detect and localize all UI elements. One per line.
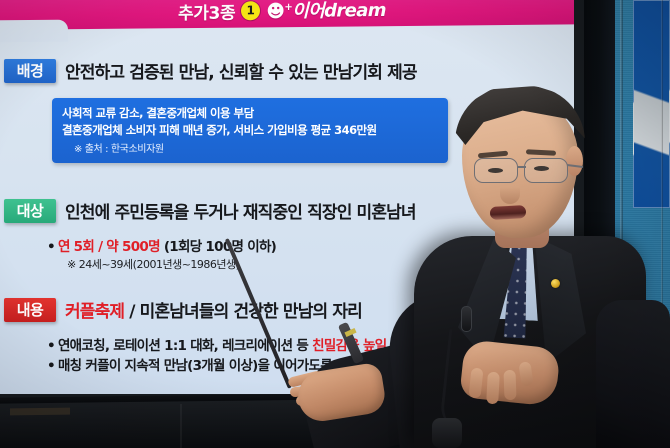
header-circle-number: 1 <box>241 1 260 20</box>
target-bullet-1-highlight: 연 5회 / 약 500명 <box>58 239 160 255</box>
badge-target: 대상 <box>4 199 56 223</box>
section-target: 대상 인천에 주민등록을 두거나 재직중인 직장인 미혼남녀 <box>4 198 416 223</box>
wall-seam-right <box>661 0 663 448</box>
callout-line-1: 사회적 교류 감소, 결혼중개업체 이용 부담 <box>62 105 438 122</box>
section-background-row: 배경 안전하고 검증된 만남, 신뢰할 수 있는 만남기회 제공 <box>4 58 417 83</box>
content-bullet-2: •매칭 커플이 지속적 만남(3개월 이상)을 이어가도록 지원 <box>47 356 402 376</box>
section-background: 배경 안전하고 검증된 만남, 신뢰할 수 있는 만남기회 제공 <box>4 58 417 83</box>
badge-content: 내용 <box>4 298 56 322</box>
section-content-title-highlight: 커플축제 <box>65 302 124 322</box>
target-bullet-1-rest: (1회당 100명 이하) <box>160 239 276 255</box>
wall-poster <box>633 0 670 208</box>
callout-line-2: 결혼중개업체 소비자 피해 매년 증가, 서비스 가입비용 평균 346만원 <box>62 122 438 139</box>
presentation-slide: 추가3종 1 ☻+이어dream 배경 안전하고 검증된 만남, 신뢰할 수 있… <box>0 0 574 394</box>
bullet-dot: • <box>47 358 55 374</box>
section-content-title-sep: / <box>124 302 140 322</box>
section-content-title-rest: 미혼남녀들의 건강한 만남의 자리 <box>140 302 362 322</box>
section-target-row: 대상 인천에 주민등록을 두거나 재직중인 직장인 미혼남녀 <box>4 198 416 223</box>
section-content: 내용 커플축제 / 미혼남녀들의 건강한 만남의 자리 <box>4 297 362 322</box>
callout-source-note: ※ 출처 : 한국소비자원 <box>74 140 438 155</box>
presentation-screen-frame: 추가3종 1 ☻+이어dream 배경 안전하고 검증된 만남, 신뢰할 수 있… <box>0 0 584 402</box>
content-bullets: •연애코칭, 로테이션 1:1 대화, 레크리에이션 등 친밀감을 높일 수 •… <box>47 336 402 377</box>
content-bullet-1: •연애코칭, 로테이션 1:1 대화, 레크리에이션 등 친밀감을 높일 수 <box>47 336 402 356</box>
callout-box-background: 사회적 교류 감소, 결혼중개업체 이용 부담 결혼중개업체 소비자 피해 매년… <box>52 98 448 163</box>
content-bullet-2-highlight: 지원 <box>336 358 359 374</box>
target-bullet-1: •연 5회 / 약 500명 (1회당 100명 이하) <box>47 237 276 257</box>
section-target-title: 인천에 주민등록을 두거나 재직중인 직장인 미혼남녀 <box>65 198 416 223</box>
section-background-title: 안전하고 검증된 만남, 신뢰할 수 있는 만남기회 제공 <box>65 58 417 83</box>
section-content-title: 커플축제 / 미혼남녀들의 건강한 만남의 자리 <box>65 297 362 322</box>
bullet-dot: • <box>47 239 55 255</box>
wall-seam-left <box>620 0 623 448</box>
content-bullet-1-plain: 연애코칭, 로테이션 1:1 대화, 레크리에이션 등 <box>58 338 312 354</box>
section-content-row: 내용 커플축제 / 미혼남녀들의 건강한 만남의 자리 <box>4 297 362 322</box>
content-bullet-1-highlight: 친밀감을 높일 수 <box>312 338 402 354</box>
target-bullets: •연 5회 / 약 500명 (1회당 100명 이하) ※ 24세~39세(2… <box>47 237 276 274</box>
under-screen-strip <box>10 408 70 416</box>
header-brand-logo: ☻+이어dream <box>266 0 386 23</box>
target-age-note: ※ 24세~39세(2001년생~1986년생) <box>67 257 276 274</box>
content-bullet-2-plain: 매칭 커플이 지속적 만남(3개월 이상)을 이어가도록 <box>58 358 336 374</box>
smiley-plus-icon: ☻+ <box>266 1 292 22</box>
under-screen-seam-2 <box>360 404 362 448</box>
header-badge-text: 추가3종 <box>178 0 235 23</box>
header-brand-text: 이어dream <box>292 0 386 22</box>
slide-header-notch <box>0 20 68 43</box>
under-screen-dark-area <box>0 396 594 448</box>
screenshot-stage: 추가3종 1 ☻+이어dream 배경 안전하고 검증된 만남, 신뢰할 수 있… <box>0 0 670 448</box>
under-screen-seam-1 <box>180 404 182 448</box>
bullet-dot: • <box>47 338 55 354</box>
badge-background: 배경 <box>4 59 56 83</box>
